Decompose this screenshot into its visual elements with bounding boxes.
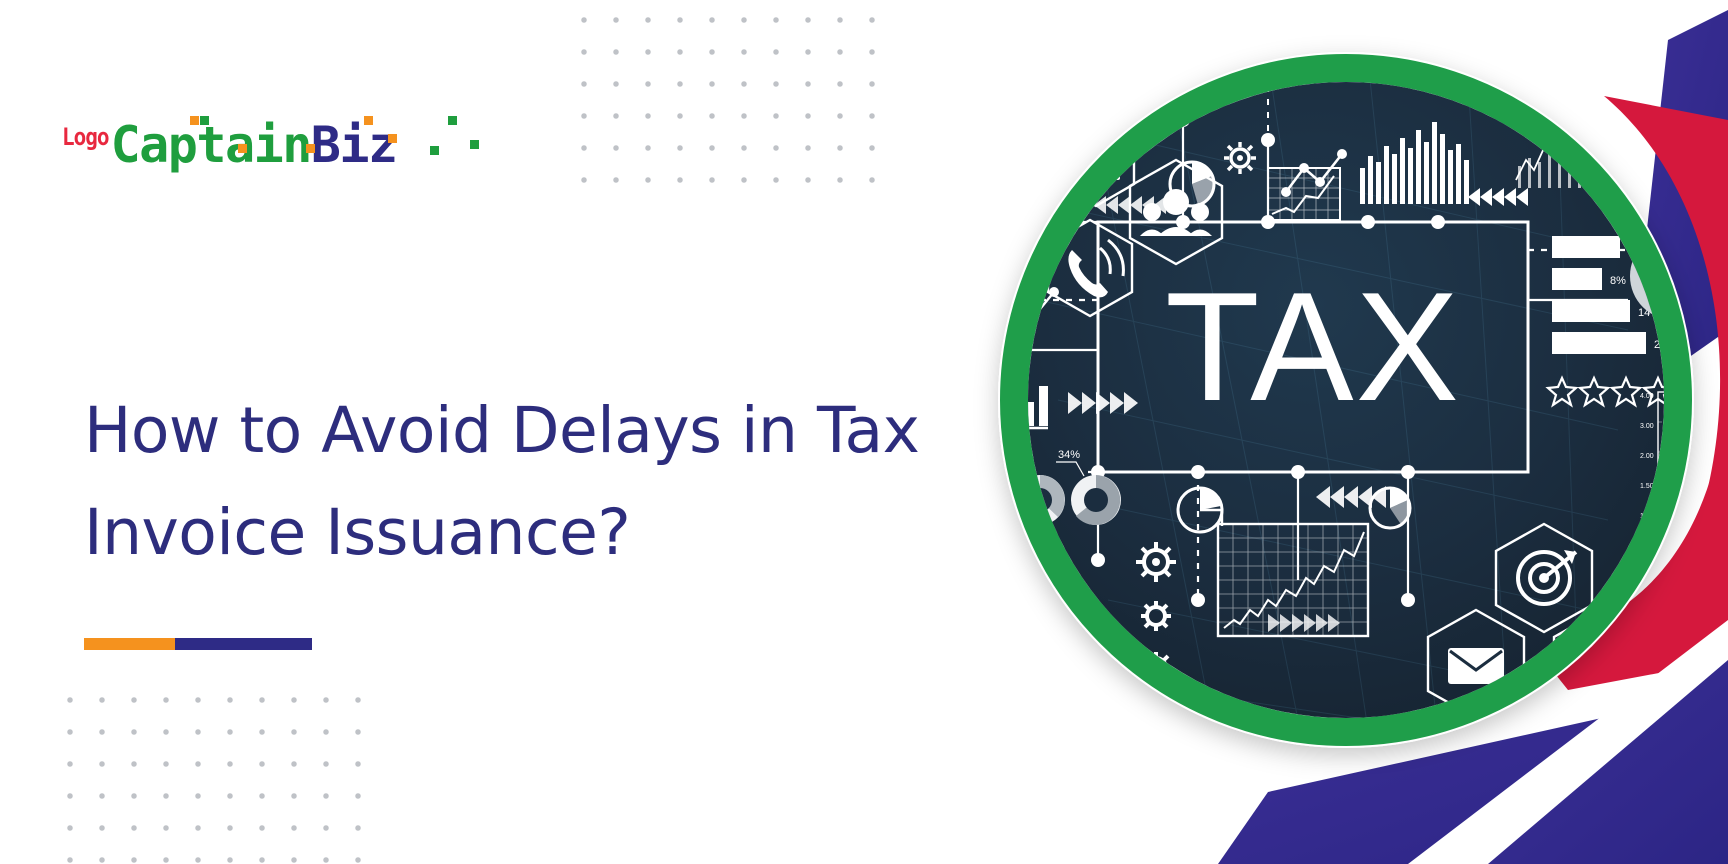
accent-bar-segment-navy — [175, 638, 312, 650]
logo-pixel-accent — [430, 146, 439, 155]
tax-label: TAX — [1165, 260, 1461, 433]
page-title: How to Avoid Delays in Tax Invoice Issua… — [84, 380, 1004, 584]
svg-text:11%: 11% — [974, 531, 995, 543]
svg-text:8%: 8% — [1610, 275, 1626, 287]
dot-grid-bottom-left — [54, 684, 378, 864]
accent-bar — [84, 638, 312, 650]
dot-grid-top-right — [568, 4, 892, 188]
svg-text:4.00: 4.00 — [1640, 393, 1654, 400]
banner-canvas: Logo Captain Biz How to Avoid Delays in … — [0, 0, 1728, 864]
gear-icon — [1136, 542, 1176, 582]
svg-text:2.00: 2.00 — [1640, 453, 1654, 460]
logo-pixel-accent — [470, 140, 479, 149]
svg-text:47%: 47% — [968, 451, 970, 463]
brand-logo[interactable]: Logo Captain Biz — [62, 104, 397, 170]
gear-icon — [1224, 142, 1256, 174]
accent-bar-segment-orange — [84, 638, 175, 650]
tax-infographic-artwork: TAX — [968, 0, 1728, 864]
logo-mark-text: Logo — [62, 125, 109, 149]
logo-word-captain: Captain — [111, 120, 311, 170]
logo-pixel-accent — [448, 116, 457, 125]
svg-text:3.00: 3.00 — [1640, 423, 1654, 430]
logo-word-biz: Biz — [311, 120, 397, 170]
svg-text:34%: 34% — [1058, 449, 1080, 461]
